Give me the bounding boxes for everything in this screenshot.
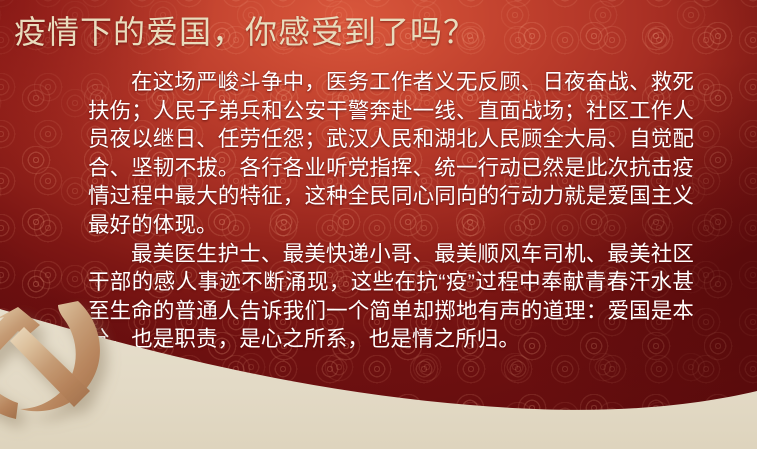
hammer-and-sickle-icon xyxy=(0,295,134,445)
presentation-slide: 疫情下的爱国，你感受到了吗？ 在这场严峻斗争中，医务工作者义无反顾、日夜奋战、救… xyxy=(0,0,757,449)
slide-title: 疫情下的爱国，你感受到了吗？ xyxy=(14,12,476,52)
body-paragraph-1: 在这场严峻斗争中，医务工作者义无反顾、日夜奋战、救死扶伤；人民子弟兵和公安干警奔… xyxy=(88,68,694,240)
